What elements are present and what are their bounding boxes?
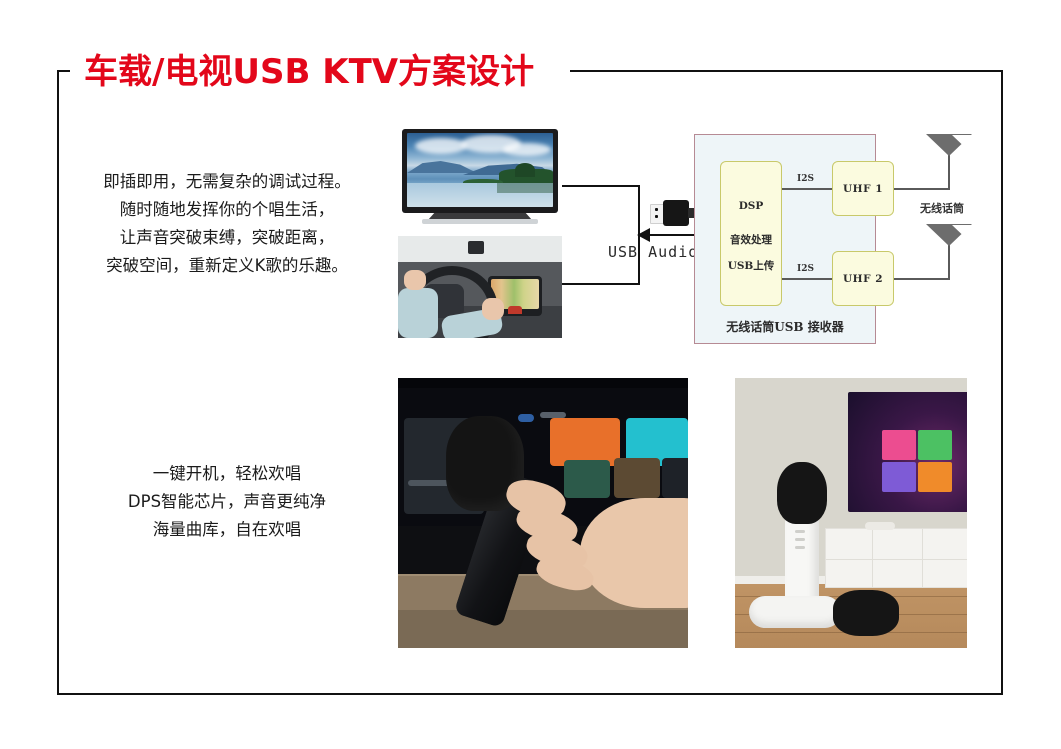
dsp-block: DSP 音效处理 USB上传 [720,161,782,306]
dashcam-icon [468,241,484,254]
usb-audio-arrow-head [637,228,650,242]
i2s2-label: I2S [797,264,814,274]
uhf2-block: UHF 2 [832,251,894,306]
lying-microphone-head [833,590,899,636]
intro-line-2: 随时随地发挥你的个唱生活， [72,196,382,224]
tv-screen-image [407,133,553,207]
tv-bezel [402,129,558,213]
intro-paragraph: 即插即用，无需复杂的调试过程。 随时随地发挥你的个唱生活， 让声音突破束缚，突破… [72,168,382,280]
antenna1-stem [948,155,950,189]
dsp-label-3: USB上传 [721,258,781,273]
usb-connector-icon [650,200,696,226]
remote-control [865,522,895,530]
i2s2-line [782,278,832,280]
tv-base [422,219,538,224]
dsp-label-1: DSP [721,200,781,212]
uhf2-label: UHF 2 [833,273,893,285]
uhf1-block: UHF 1 [832,161,894,216]
i2s1-label: I2S [797,174,814,184]
wireless-mic-label: 无线话筒 [920,200,964,216]
antenna-2-icon [926,224,972,246]
standing-microphone-head [777,462,827,524]
feature-line-3: 海量曲库，自在欢唱 [72,516,382,544]
television-photo [398,126,562,230]
intro-line-4: 突破空间，重新定义K歌的乐趣。 [72,252,382,280]
intro-line-3: 让声音突破束缚，突破距离， [72,224,382,252]
bracket-bottom-line [562,283,640,285]
antenna2-stem [948,245,950,279]
features-paragraph: 一键开机，轻松欢唱 DPS智能芯片，声音更纯净 海量曲库，自在欢唱 [72,460,382,544]
page-title: 车载/电视USB KTV方案设计 [84,44,534,93]
microphones-living-room-photo [735,378,967,648]
bracket-top-line [562,185,640,187]
receiver-caption: 无线话筒USB 接收器 [694,318,876,335]
wall-television [848,392,967,512]
uhf1-antenna-line [894,188,950,190]
microphone-in-car-photo [398,378,688,648]
i2s1-line [782,188,832,190]
feature-line-2: DPS智能芯片，声音更纯净 [72,488,382,516]
uhf2-antenna-line [894,278,950,280]
car-dashboard-photo [398,236,562,338]
dsp-label-2: 音效处理 [721,232,781,247]
usb-audio-label: USB Audio [608,243,698,261]
lying-microphone-body [749,596,841,628]
uhf1-label: UHF 1 [833,183,893,195]
intro-line-1: 即插即用，无需复杂的调试过程。 [72,168,382,196]
tv-cabinet [825,528,967,588]
feature-line-1: 一键开机，轻松欢唱 [72,460,382,488]
antenna-1-icon [926,134,972,156]
